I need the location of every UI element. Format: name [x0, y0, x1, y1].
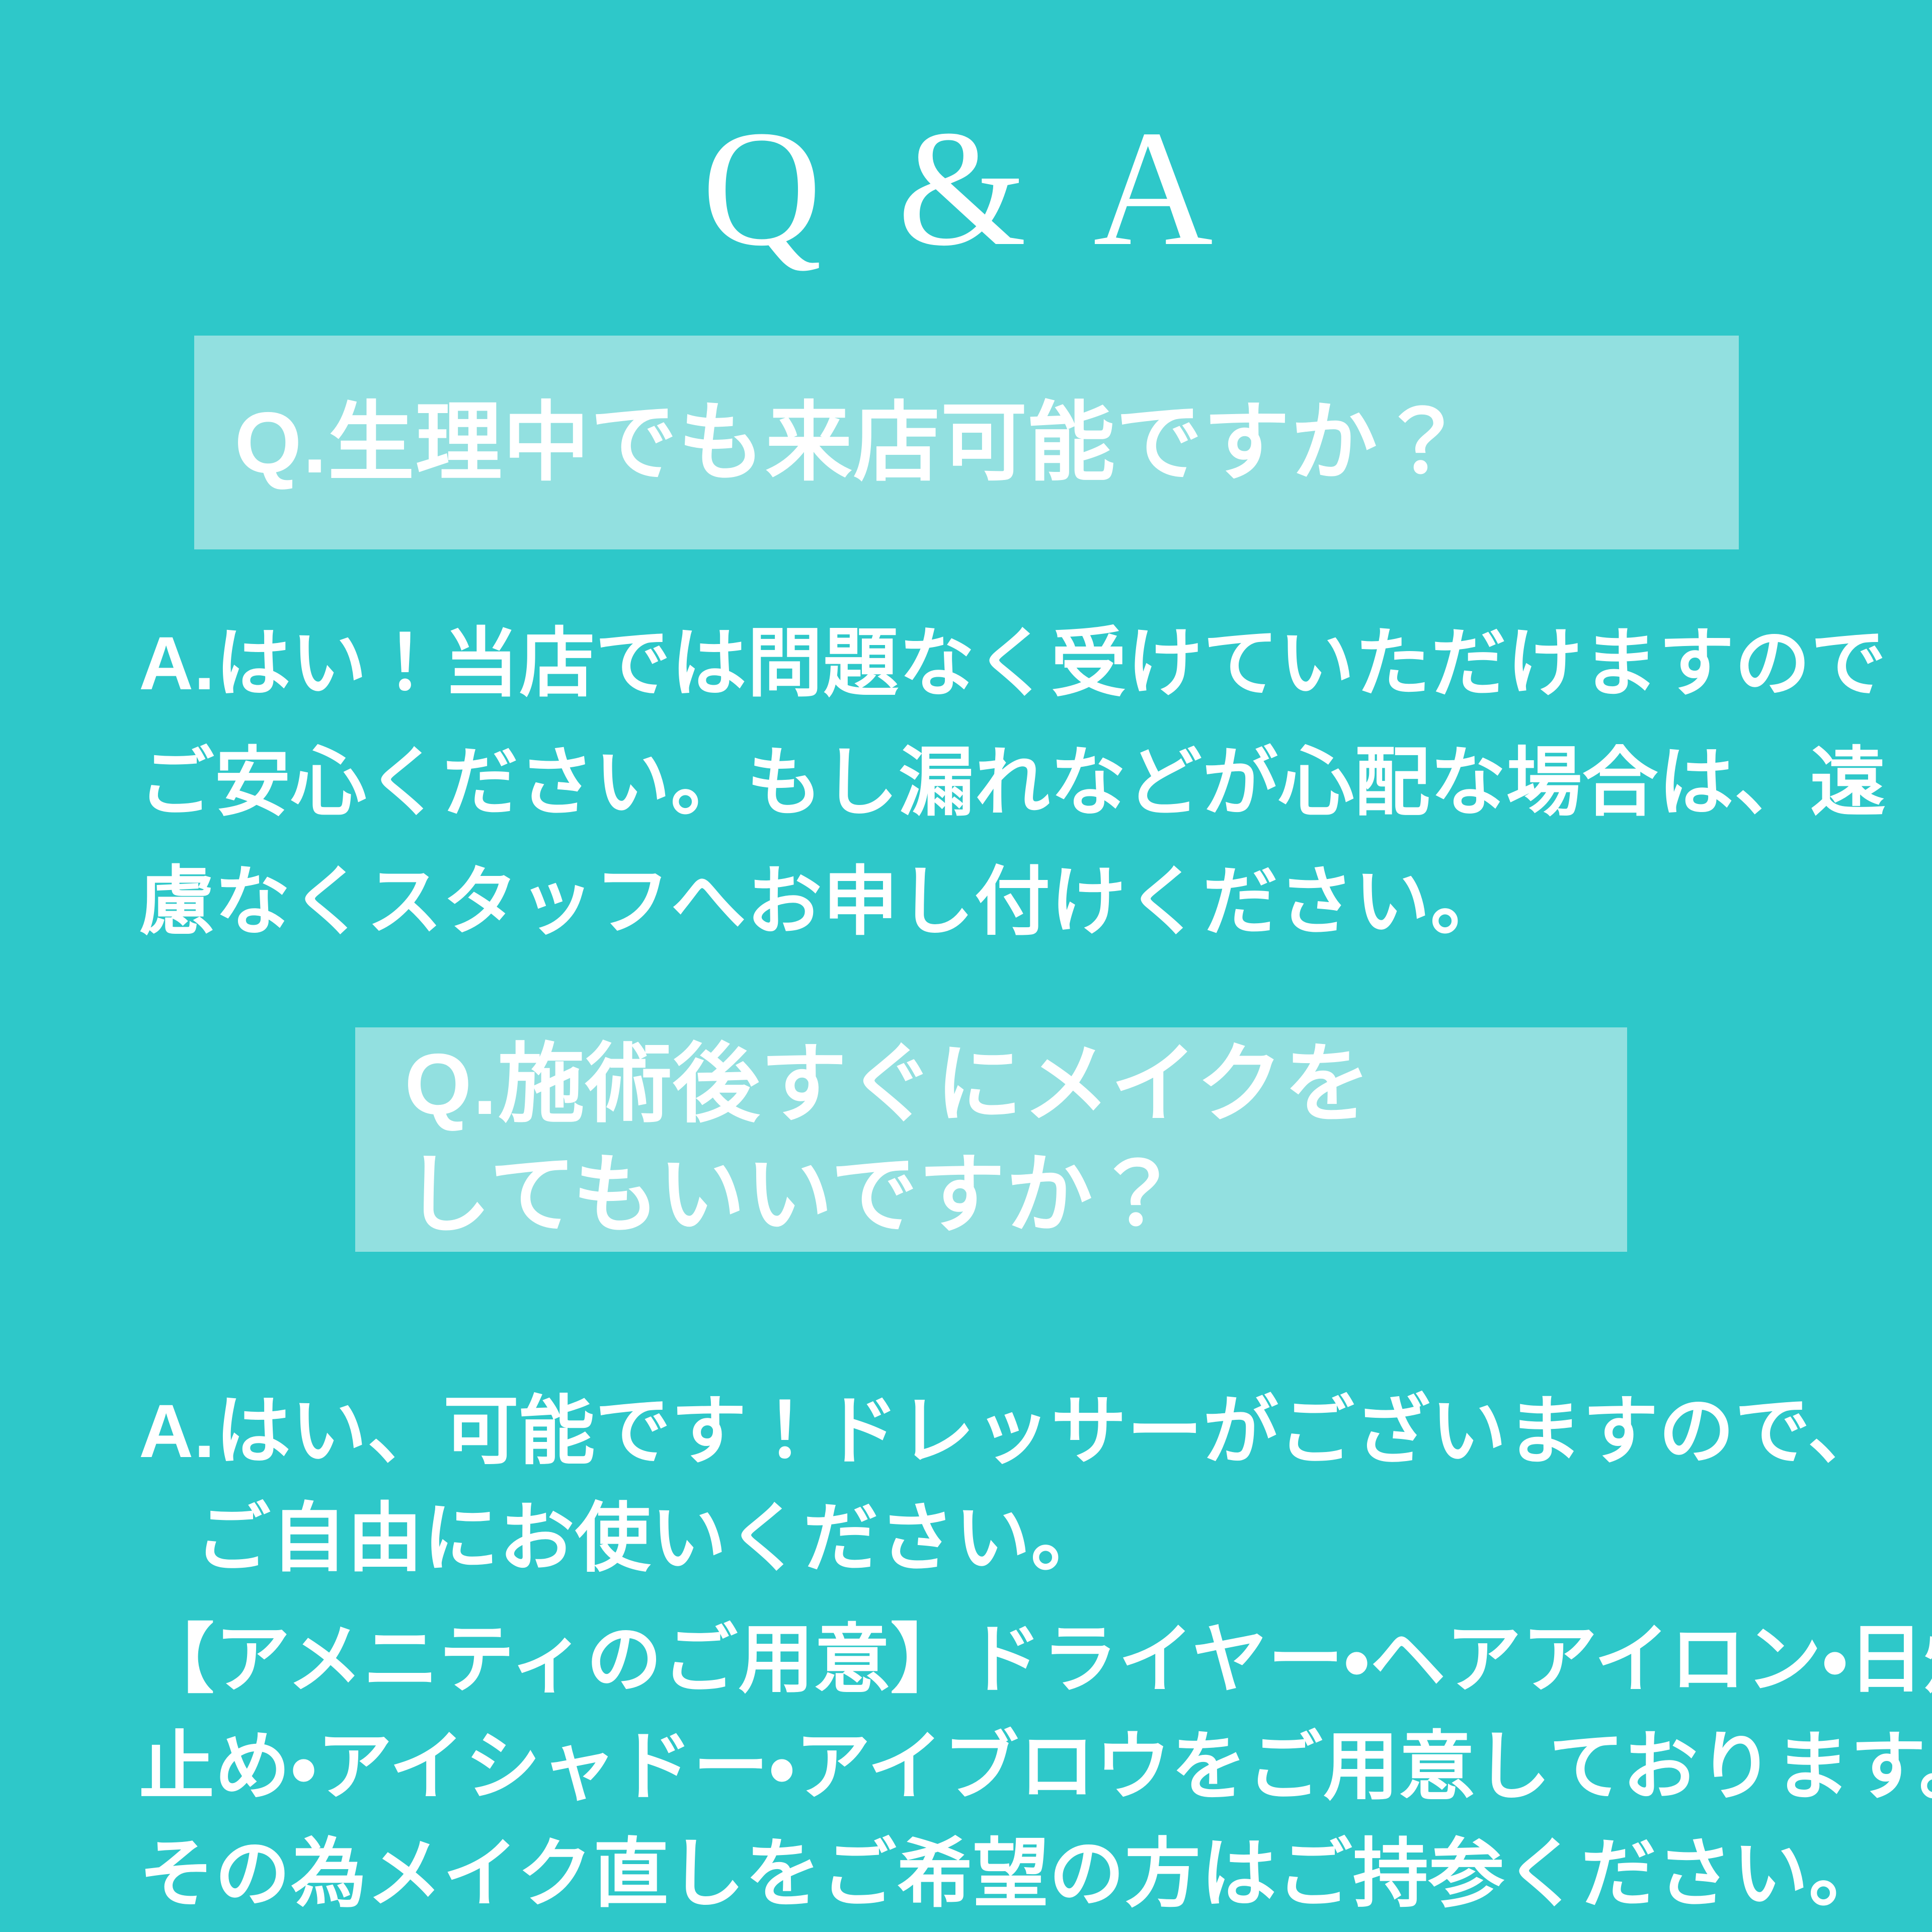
- qa-poster: Q & A Q.生理中でも来店可能ですか？ A.はい！当店では問題なく受けていた…: [0, 0, 1932, 1932]
- question-banner-1: Q.生理中でも来店可能ですか？: [194, 336, 1739, 549]
- page-title: Q & A: [0, 106, 1932, 272]
- answer-1-line-3: 慮なくスタッフへお申し付けください。: [139, 842, 1809, 961]
- question-2-line-2: してもいいですか？: [405, 1140, 1627, 1250]
- answer-2-line-1: A.はい、可能です！ドレッサーがございますので、: [139, 1378, 1809, 1485]
- answer-1-line-1: A.はい！当店では問題なく受けていただけますので: [139, 604, 1809, 723]
- answer-2-line-5: その為メイク直しをご希望の方はご持参ください。: [139, 1820, 1809, 1927]
- answer-2-line-3: 【アメニティのご用意】ドライヤー・ヘアアイロン・日焼け: [139, 1606, 1809, 1713]
- answer-2: A.はい、可能です！ドレッサーがございますので、 ご自由にお使いください。 【ア…: [139, 1378, 1809, 1927]
- answer-2-line-2: ご自由にお使いください。: [139, 1485, 1809, 1592]
- question-2-line-1: Q.施術後すぐにメイクを: [405, 1029, 1627, 1140]
- answer-1: A.はい！当店では問題なく受けていただけますので ご安心ください。もし漏れなどが…: [139, 604, 1809, 961]
- answer-1-line-2: ご安心ください。もし漏れなどが心配な場合は、遠: [139, 723, 1809, 842]
- answer-2-line-4: 止め・アイシャドー・アイブロウをご用意しております。: [139, 1713, 1809, 1820]
- question-1-line-1: Q.生理中でも来店可能ですか？: [234, 399, 1739, 486]
- question-banner-2: Q.施術後すぐにメイクを してもいいですか？: [355, 1027, 1627, 1252]
